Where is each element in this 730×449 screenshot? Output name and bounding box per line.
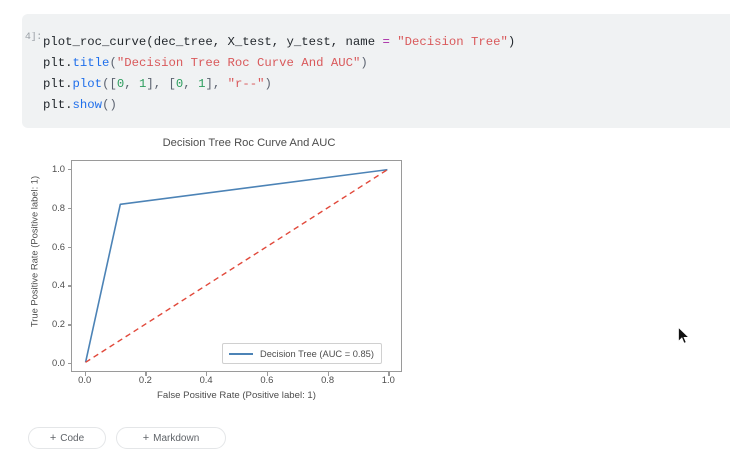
code-line: plt.show() [43, 95, 726, 116]
plus-icon: + [50, 433, 56, 444]
add-code-cell-button[interactable]: + Code [28, 427, 106, 449]
y-tick-mark [68, 324, 72, 325]
x-tick-label: 0.6 [249, 374, 285, 385]
add-code-label: Code [60, 433, 84, 444]
code-token: show [73, 98, 103, 112]
code-token: title [73, 56, 110, 70]
x-tick-mark [85, 372, 86, 376]
x-axis-label: False Positive Rate (Positive label: 1) [71, 390, 402, 401]
x-tick-label: 0.4 [188, 374, 224, 385]
code-token: ) [265, 77, 272, 91]
code-token: ([ [102, 77, 117, 91]
x-axis-ticks: 0.00.20.40.60.81.0 [71, 374, 402, 390]
plus-icon: + [143, 433, 149, 444]
code-token: plot [73, 77, 103, 91]
y-tick-mark [68, 363, 72, 364]
x-tick-mark [145, 372, 146, 376]
code-token: ], [ [146, 77, 176, 91]
y-tick-label: 1.0 [25, 163, 65, 174]
chart-title: Decision Tree Roc Curve And AUC [71, 137, 427, 149]
add-markdown-label: Markdown [153, 433, 199, 444]
y-tick-label: 0.0 [25, 357, 65, 368]
x-tick-label: 0.0 [67, 374, 103, 385]
x-tick-mark [267, 372, 268, 376]
x-tick-label: 0.2 [127, 374, 163, 385]
code-line: plt.plot([0, 1], [0, 1], "r--") [43, 74, 726, 95]
x-tick-mark [328, 372, 329, 376]
matplotlib-figure: Decision Tree Roc Curve And AUC True Pos… [14, 134, 444, 420]
x-tick-label: 1.0 [370, 374, 406, 385]
plot-area [71, 160, 402, 372]
add-markdown-cell-button[interactable]: + Markdown [116, 427, 226, 449]
notebook-code-cell[interactable]: 4]: plot_roc_curve(dec_tree, X_test, y_t… [22, 14, 730, 128]
code-token: plt. [43, 98, 73, 112]
code-editor[interactable]: plot_roc_curve(dec_tree, X_test, y_test,… [43, 32, 726, 116]
code-token: "Decision Tree Roc Curve And AUC" [117, 56, 361, 70]
plot-lines [72, 161, 401, 371]
code-token: plot_roc_curve(dec_tree, X_test, y_test,… [43, 35, 382, 49]
code-token: ) [508, 35, 515, 49]
x-tick-mark [206, 372, 207, 376]
code-token: "Decision Tree" [397, 35, 508, 49]
y-tick-label: 0.2 [25, 318, 65, 329]
code-token: , [183, 77, 198, 91]
code-token: ( [109, 56, 116, 70]
code-token: ], [205, 77, 227, 91]
chart-legend: Decision Tree (AUC = 0.85) [222, 343, 382, 364]
legend-entry-label: Decision Tree (AUC = 0.85) [260, 349, 374, 359]
y-tick-mark [68, 247, 72, 248]
mouse-cursor [678, 327, 690, 345]
code-token: ) [360, 56, 367, 70]
code-token: "r--" [228, 77, 265, 91]
code-token: () [102, 98, 117, 112]
y-axis-ticks: 0.00.20.40.60.81.0 [22, 160, 65, 372]
y-tick-label: 0.6 [25, 241, 65, 252]
y-tick-mark [68, 208, 72, 209]
code-token: plt. [43, 56, 73, 70]
y-tick-label: 0.4 [25, 279, 65, 290]
code-line: plot_roc_curve(dec_tree, X_test, y_test,… [43, 32, 726, 53]
chart-series-line [86, 170, 388, 363]
x-tick-label: 0.8 [310, 374, 346, 385]
cell-execution-prompt: 4]: [20, 32, 42, 43]
code-token: plt. [43, 77, 73, 91]
y-tick-mark [68, 169, 72, 170]
code-token: = [382, 35, 397, 49]
code-line: plt.title("Decision Tree Roc Curve And A… [43, 53, 726, 74]
legend-line-swatch [229, 353, 253, 355]
code-token: , [124, 77, 139, 91]
x-tick-mark [388, 372, 389, 376]
y-tick-label: 0.8 [25, 202, 65, 213]
y-tick-mark [68, 285, 72, 286]
